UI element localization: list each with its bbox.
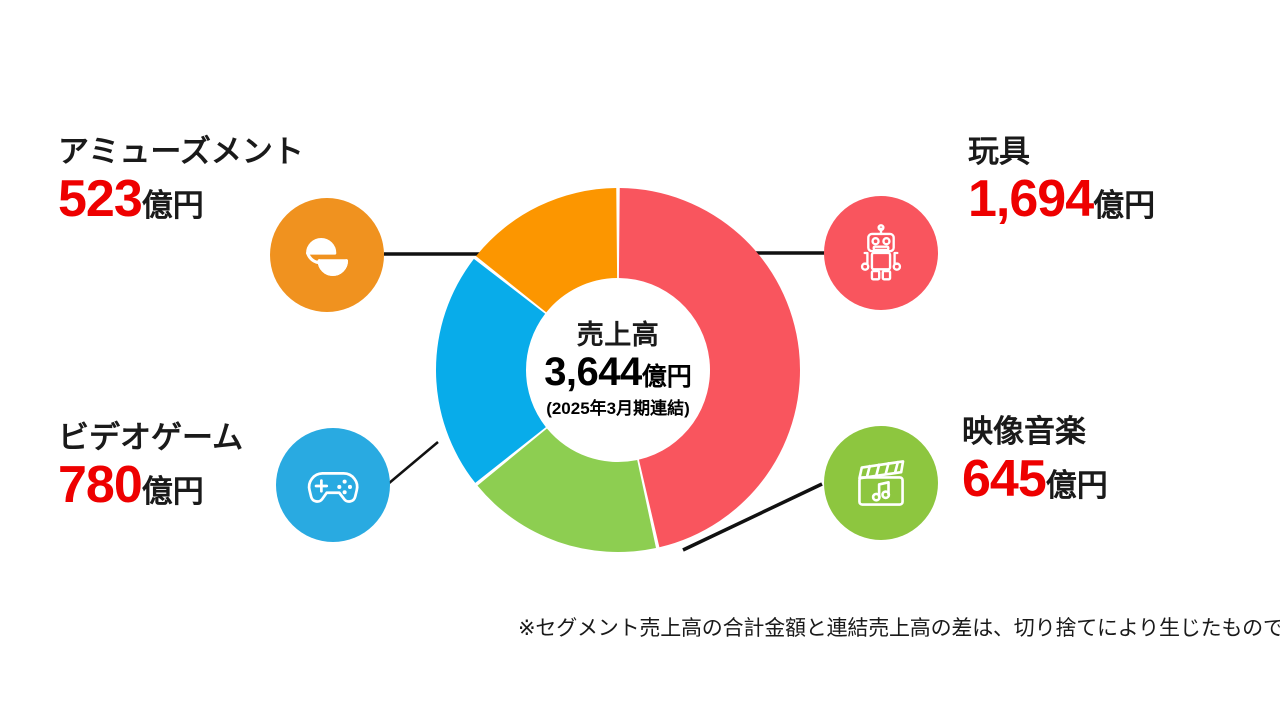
segment-value-number-amusement: 523	[58, 170, 142, 228]
sales-breakdown-infographic: 売上高 3,644億円 (2025年3月期連結)	[0, 0, 1280, 720]
segment-label-amusement: アミューズメント 523億円	[58, 134, 304, 226]
segment-value-number-toy: 1,694	[968, 170, 1093, 228]
segment-name-media: 映像音楽	[962, 414, 1108, 450]
segment-value-unit-media: 億円	[1046, 468, 1108, 503]
segment-value-unit-amusement: 億円	[142, 188, 204, 223]
donut-segment-toy	[619, 188, 800, 547]
segment-icon-bubble-toy	[824, 196, 938, 310]
segment-value-number-game: 780	[58, 456, 142, 514]
segment-value-unit-toy: 億円	[1093, 188, 1155, 223]
robot-icon	[852, 224, 910, 282]
segment-icon-bubble-game	[276, 428, 390, 542]
capsule-toy-icon	[296, 224, 358, 286]
segment-name-game: ビデオゲーム	[58, 420, 243, 456]
segment-name-amusement: アミューズメント	[58, 134, 304, 170]
segment-value-amusement: 523億円	[58, 172, 304, 227]
segment-value-toy: 1,694億円	[968, 172, 1155, 227]
game-controller-icon	[302, 454, 364, 516]
segment-icon-bubble-media	[824, 426, 938, 540]
segment-label-game: ビデオゲーム 780億円	[58, 420, 243, 512]
segment-value-unit-game: 億円	[142, 474, 204, 509]
footnote-text: ※セグメント売上高の合計金額と連結売上高の差は、切り捨てにより生じたものです	[518, 612, 1280, 642]
donut-chart	[428, 180, 808, 560]
segment-name-toy: 玩具	[968, 134, 1155, 170]
segment-value-media: 645億円	[962, 452, 1108, 507]
segment-value-game: 780億円	[58, 458, 243, 513]
segment-label-toy: 玩具 1,694億円	[968, 134, 1155, 226]
segment-value-number-media: 645	[962, 450, 1046, 508]
clapperboard-music-icon	[851, 453, 911, 513]
segment-label-media: 映像音楽 645億円	[962, 414, 1108, 506]
donut-chart-svg	[428, 180, 808, 560]
